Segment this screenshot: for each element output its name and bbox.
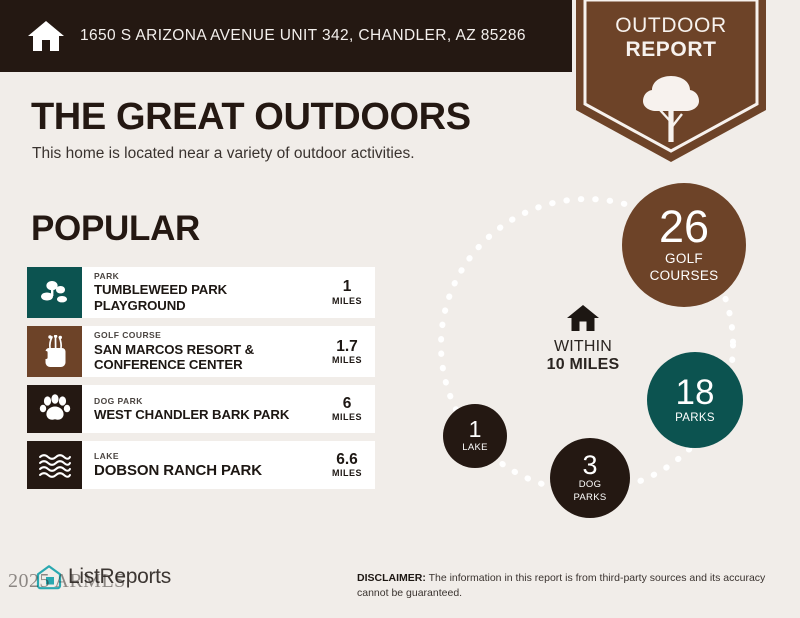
list-item-body: GOLF COURSE SAN MARCOS RESORT & CONFEREN… — [82, 326, 375, 377]
distance-unit: MILES — [327, 355, 367, 365]
list-item-distance: 1.7 MILES — [321, 339, 367, 365]
list-item[interactable]: LAKE DOBSON RANCH PARK 6.6 MILES — [27, 441, 375, 489]
home-icon — [566, 303, 600, 333]
paw-print-icon — [27, 385, 82, 433]
outdoor-report-page: 1650 S ARIZONA AVENUE UNIT 342, CHANDLER… — [0, 0, 800, 618]
list-item-category: GOLF COURSE — [94, 330, 279, 341]
property-address: 1650 S ARIZONA AVENUE UNIT 342, CHANDLER… — [80, 27, 526, 45]
list-item-name: DOBSON RANCH PARK — [94, 462, 262, 480]
distance-unit: MILES — [327, 468, 367, 478]
header-bar: 1650 S ARIZONA AVENUE UNIT 342, CHANDLER… — [0, 0, 572, 72]
bubble-label-line2: PARKS — [573, 493, 606, 503]
bubble-value: 3 — [582, 453, 597, 479]
list-item[interactable]: GOLF COURSE SAN MARCOS RESORT & CONFEREN… — [27, 326, 375, 377]
list-item-distance: 6 MILES — [321, 396, 367, 422]
disclaimer: DISCLAIMER: The information in this repo… — [357, 571, 777, 601]
list-item-distance: 1 MILES — [321, 279, 367, 305]
bubble-label-line2: COURSES — [650, 269, 719, 284]
center-line-2: 10 MILES — [547, 356, 620, 374]
list-item-name: WEST CHANDLER BARK PARK — [94, 407, 289, 423]
list-item-category: LAKE — [94, 451, 262, 462]
list-item-name: SAN MARCOS RESORT & CONFERENCE CENTER — [94, 342, 279, 374]
park-tree-icon — [27, 267, 82, 318]
bubble-golf-courses[interactable]: 26 GOLF COURSES — [622, 183, 746, 307]
badge-line-2: REPORT — [576, 38, 766, 62]
bubble-lake[interactable]: 1 LAKE — [443, 404, 507, 468]
list-item-body: DOG PARK WEST CHANDLER BARK PARK 6 MILES — [82, 385, 375, 433]
disclaimer-label: DISCLAIMER: — [357, 572, 426, 584]
within-10-miles-bubble-chart: 26 GOLF COURSES 18 PARKS 1 LAKE 3 DOG PA… — [410, 175, 800, 540]
page-title: THE GREAT OUTDOORS — [31, 96, 471, 139]
popular-heading: POPULAR — [31, 209, 200, 249]
list-item-category: PARK — [94, 271, 321, 282]
chart-center-label: WITHIN 10 MILES — [528, 303, 638, 374]
list-item-texts: LAKE DOBSON RANCH PARK — [94, 451, 262, 480]
list-item-texts: DOG PARK WEST CHANDLER BARK PARK — [94, 396, 289, 423]
list-item[interactable]: DOG PARK WEST CHANDLER BARK PARK 6 MILES — [27, 385, 375, 433]
center-line-1: WITHIN — [554, 338, 612, 356]
bubble-value: 26 — [659, 206, 709, 249]
distance-value: 6 — [327, 396, 367, 412]
bubble-dog-parks[interactable]: 3 DOG PARKS — [550, 438, 630, 518]
bubble-value: 1 — [469, 419, 482, 441]
distance-unit: MILES — [327, 296, 367, 306]
water-waves-icon — [27, 441, 82, 489]
bubble-label-line1: LAKE — [462, 443, 488, 453]
bubble-label-line1: GOLF — [665, 252, 703, 267]
bubble-parks[interactable]: 18 PARKS — [647, 352, 743, 448]
bubble-label-line1: PARKS — [675, 412, 715, 425]
list-item-distance: 6.6 MILES — [321, 452, 367, 478]
list-item-name: TUMBLEWEED PARK PLAYGROUND — [94, 282, 321, 314]
list-item-body: LAKE DOBSON RANCH PARK 6.6 MILES — [82, 441, 375, 489]
list-item-texts: GOLF COURSE SAN MARCOS RESORT & CONFEREN… — [94, 330, 279, 373]
armls-watermark: 2025 ARMLS — [8, 570, 126, 593]
badge-text: OUTDOOR REPORT — [576, 14, 766, 61]
distance-value: 6.6 — [327, 452, 367, 468]
outdoor-report-badge: OUTDOOR REPORT — [576, 0, 766, 162]
list-item-body: PARK TUMBLEWEED PARK PLAYGROUND 1 MILES — [82, 267, 375, 318]
popular-list: PARK TUMBLEWEED PARK PLAYGROUND 1 MILES — [27, 267, 375, 497]
page-subtitle: This home is located near a variety of o… — [32, 145, 415, 163]
distance-value: 1.7 — [327, 339, 367, 355]
list-item-texts: PARK TUMBLEWEED PARK PLAYGROUND — [94, 271, 321, 314]
golf-bag-icon — [27, 326, 82, 377]
badge-line-1: OUTDOOR — [576, 14, 766, 38]
list-item[interactable]: PARK TUMBLEWEED PARK PLAYGROUND 1 MILES — [27, 267, 375, 318]
bubble-label-line1: DOG — [579, 480, 602, 490]
distance-unit: MILES — [327, 412, 367, 422]
list-item-category: DOG PARK — [94, 396, 289, 407]
home-icon — [26, 16, 66, 56]
distance-value: 1 — [327, 279, 367, 295]
bubble-value: 18 — [676, 376, 715, 409]
